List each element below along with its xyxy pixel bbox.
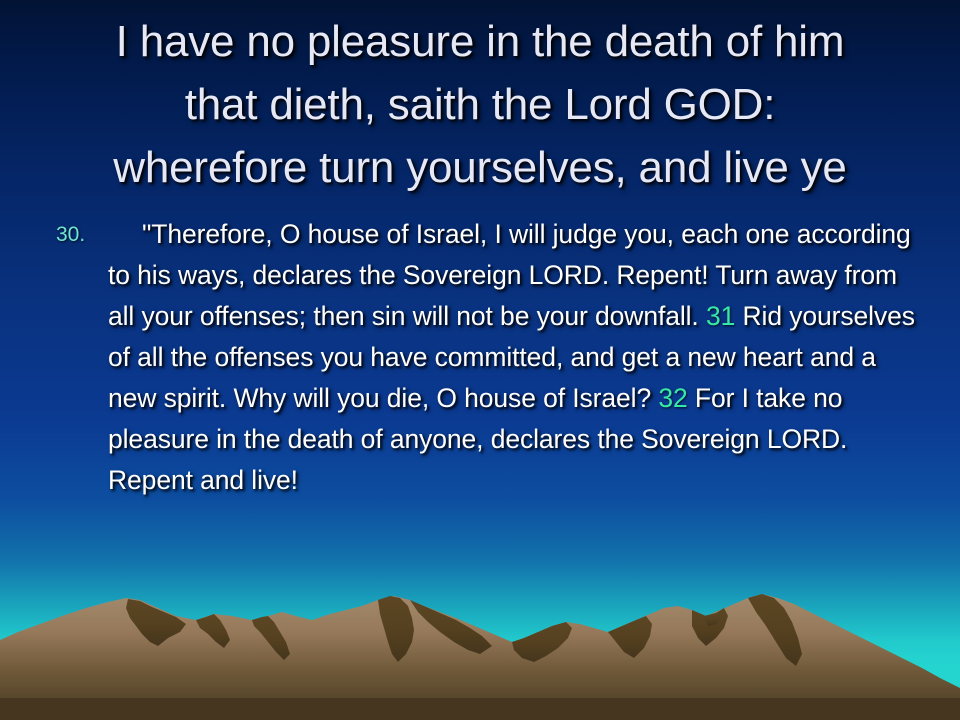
verse-body-text: "Therefore, O house of Israel, I will ju… <box>108 214 922 501</box>
verse-number-32: 32 <box>658 383 687 413</box>
slide-title: I have no pleasure in the death of him t… <box>8 10 952 199</box>
verse-list-marker: 30. <box>52 214 108 255</box>
verse-block: 30. "Therefore, O house of Israel, I wil… <box>52 214 922 501</box>
verse-number-31: 31 <box>706 301 735 331</box>
mountain-range-silhouette <box>0 580 960 720</box>
presentation-slide: I have no pleasure in the death of him t… <box>0 0 960 720</box>
mountain-base-band <box>0 698 960 720</box>
